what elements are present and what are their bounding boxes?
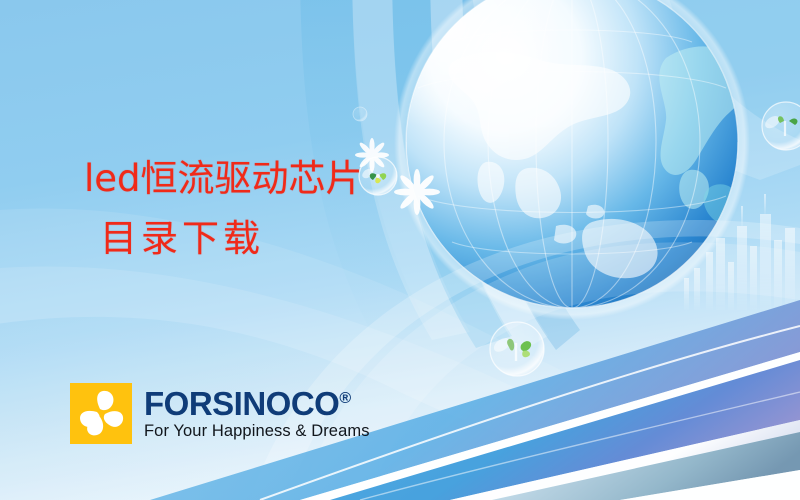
bubble-leaf <box>490 322 544 376</box>
wordmark-letters: FORSINOCO <box>144 385 339 422</box>
registered-mark-icon: ® <box>339 390 350 407</box>
headline-line-2: 目录下载 <box>100 220 363 257</box>
brand-logo: FORSINOCO® For Your Happiness & Dreams <box>70 383 370 444</box>
logo-tagline: For Your Happiness & Dreams <box>144 422 370 441</box>
forsinoco-mark-icon <box>70 383 132 444</box>
logo-wordmark: FORSINOCO® <box>144 387 370 421</box>
logo-text-block: FORSINOCO® For Your Happiness & Dreams <box>144 383 370 441</box>
slide-canvas: led恒流驱动芯片 目录下载 FORSINOCO® For Your Happi… <box>0 0 800 500</box>
headline-line-1: led恒流驱动芯片 <box>84 160 363 197</box>
bubble-small <box>353 107 367 121</box>
bubble-pinwheel <box>359 157 397 195</box>
flower-burst-2 <box>394 169 440 215</box>
headline-text: led恒流驱动芯片 目录下载 <box>84 160 363 257</box>
